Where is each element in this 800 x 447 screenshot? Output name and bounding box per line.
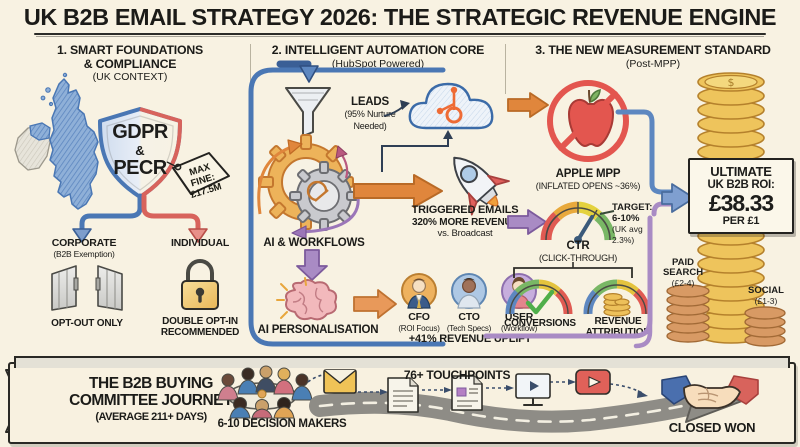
max-fine-tag: MAX FINE: £17.5M [165, 150, 233, 202]
closed-won-label: CLOSED WON [652, 420, 772, 435]
persona-cfo-label: CFO (ROI Focus) [396, 312, 442, 334]
svg-text:$: $ [728, 76, 735, 89]
column-3-title-line1: 3. THE NEW MEASUREMENT STANDARD [512, 44, 794, 58]
paid-search-line2: SEARCH [652, 268, 714, 278]
personalisation-down-arrow [295, 248, 329, 282]
roi-line4: PER £1 [692, 215, 790, 227]
open-gates-icon [48, 262, 126, 314]
brain-icon [275, 278, 349, 328]
optout-caption: OPT-OUT ONLY [37, 318, 137, 329]
double-optin-caption: DOUBLE OPT-IN RECOMMENDED [150, 316, 250, 338]
roi-line1: ULTIMATE [692, 164, 790, 179]
column-1-title-line1: 1. SMART FOUNDATIONS [25, 44, 235, 58]
banner-top-strip [14, 356, 790, 368]
persona-cto-avatar [450, 272, 488, 310]
persona-cfo-avatar [400, 272, 438, 310]
ai-personalisation-label: AI PERSONALISATION [254, 325, 382, 336]
corporate-branch-label: CORPORATE (B2B Exemption) [34, 238, 134, 260]
double-optin-line1: DOUBLE OPT-IN [162, 316, 238, 327]
paid-search-coin-stack [664, 282, 712, 344]
column-1-title-line2: & COMPLIANCE [25, 58, 235, 72]
individual-label: INDIVIDUAL [171, 237, 229, 249]
leads-inflow-arrow [278, 60, 328, 90]
social-coin-stack [742, 300, 788, 348]
metrics-group-box [498, 256, 658, 352]
paid-search-label: PAID SEARCH (£2-4) [652, 258, 714, 288]
hubspot-cloud-icon [404, 76, 498, 138]
brain-to-personas-arrow [352, 288, 398, 320]
social-line1: SOCIAL [736, 286, 796, 296]
social-label: SOCIAL (£1-3) [736, 286, 796, 306]
title-underline [34, 33, 766, 35]
persona-cto-title: CTO [458, 311, 479, 323]
individual-branch-label: INDIVIDUAL [150, 238, 250, 249]
social-line2: (£1-3) [736, 296, 796, 306]
infographic-canvas: UK B2B EMAIL STRATEGY 2026: THE STRATEGI… [0, 0, 800, 447]
padlock-icon [172, 258, 228, 314]
leads-to-hubspot-arrow [382, 98, 414, 120]
buying-committee-icon [204, 366, 320, 418]
paid-search-line3: (£2-4) [652, 278, 714, 288]
persona-cto-label: CTO (Tech Specs) [446, 312, 492, 334]
double-optin-line2: RECOMMENDED [161, 327, 239, 338]
touchpoints-label: 76+ TOUCHPOINTS [382, 368, 532, 382]
corporate-label: CORPORATE [52, 237, 117, 249]
roi-box: ULTIMATE UK B2B ROI: £38.33 PER £1 [688, 158, 794, 234]
column-2-title-line1: 2. INTELLIGENT AUTOMATION CORE [258, 44, 498, 58]
corporate-sublabel: (B2B Exemption) [34, 249, 134, 260]
shield-label-gdpr: GDPR [92, 121, 188, 144]
handshake-icon [660, 372, 760, 420]
page-title: UK B2B EMAIL STRATEGY 2026: THE STRATEGI… [0, 4, 800, 31]
persona-cfo-title: CFO [408, 311, 430, 323]
roi-value: £38.33 [692, 191, 790, 215]
